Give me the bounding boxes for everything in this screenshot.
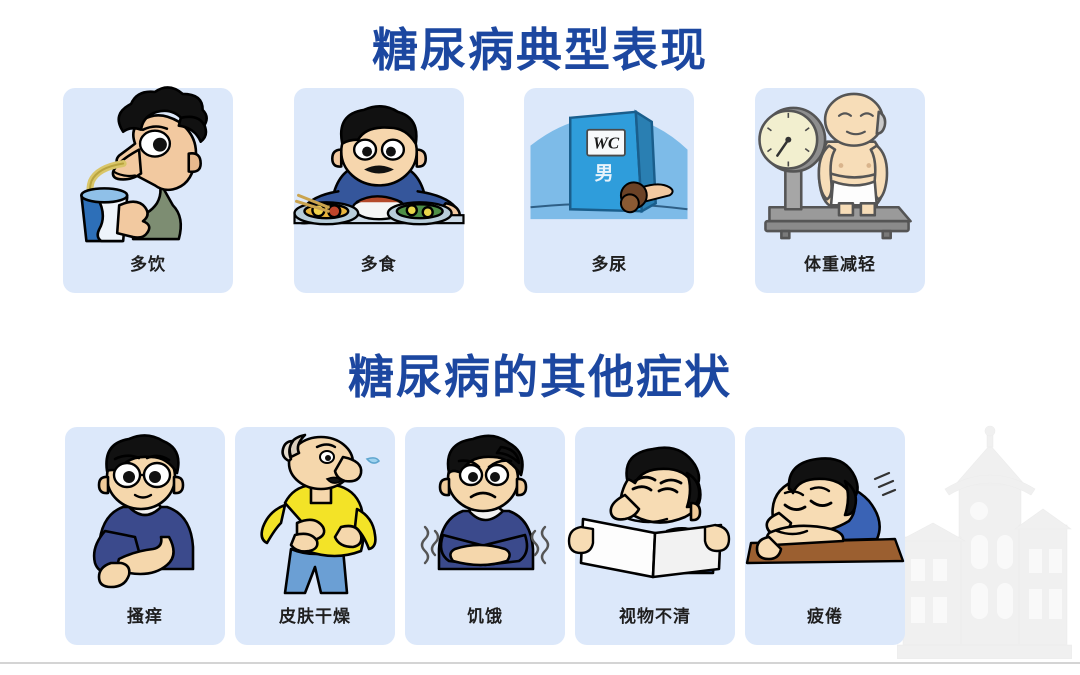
person-hungry-stomach-icon bbox=[405, 427, 565, 599]
symptom-card[interactable]: 疲倦 bbox=[745, 427, 905, 645]
symptom-label: 体重减轻 bbox=[804, 250, 876, 293]
toilet-door-wc-icon: WC 男 bbox=[524, 88, 694, 247]
heading-classic-symptoms: 糖尿病典型表现 bbox=[0, 14, 1080, 80]
symptom-card[interactable]: 体重减轻 bbox=[755, 88, 925, 293]
wc-gender-text: 男 bbox=[595, 162, 614, 184]
symptom-card[interactable]: WC 男 多尿 bbox=[524, 88, 694, 293]
person-sleeping-desk-icon bbox=[745, 427, 905, 599]
person-drinking-cup-icon bbox=[63, 88, 233, 247]
heading-other-symptoms: 糖尿病的其他症状 bbox=[0, 341, 1080, 407]
symptom-label: 多饮 bbox=[130, 250, 166, 293]
symptom-label: 皮肤干燥 bbox=[279, 602, 351, 645]
person-dry-skin-icon bbox=[235, 427, 395, 599]
symptom-card[interactable]: 视物不清 bbox=[575, 427, 735, 645]
bottom-strip bbox=[0, 664, 1080, 675]
wc-sign-text: WC bbox=[593, 134, 620, 153]
symptom-label: 多尿 bbox=[591, 250, 627, 293]
symptom-label: 饥饿 bbox=[467, 602, 503, 645]
other-symptoms-row: 搔痒 bbox=[65, 427, 905, 645]
person-scratching-arm-icon bbox=[65, 427, 225, 599]
symptom-card[interactable]: 饥饿 bbox=[405, 427, 565, 645]
slide-canvas: 糖尿病典型表现 bbox=[0, 0, 1080, 675]
symptom-card[interactable]: 多食 bbox=[294, 88, 464, 293]
symptom-label: 视物不清 bbox=[619, 602, 691, 645]
symptom-label: 多食 bbox=[361, 250, 397, 293]
symptom-label: 搔痒 bbox=[127, 602, 163, 645]
person-eating-meal-icon bbox=[294, 88, 464, 247]
classic-symptoms-row: 多饮 bbox=[63, 88, 925, 293]
person-reading-newspaper-icon bbox=[575, 427, 735, 599]
symptom-label: 疲倦 bbox=[807, 602, 843, 645]
symptom-card[interactable]: 皮肤干燥 bbox=[235, 427, 395, 645]
person-on-weighing-scale-icon bbox=[755, 88, 925, 247]
historic-building-watermark bbox=[897, 419, 1072, 659]
symptom-card[interactable]: 搔痒 bbox=[65, 427, 225, 645]
symptom-card[interactable]: 多饮 bbox=[63, 88, 233, 293]
